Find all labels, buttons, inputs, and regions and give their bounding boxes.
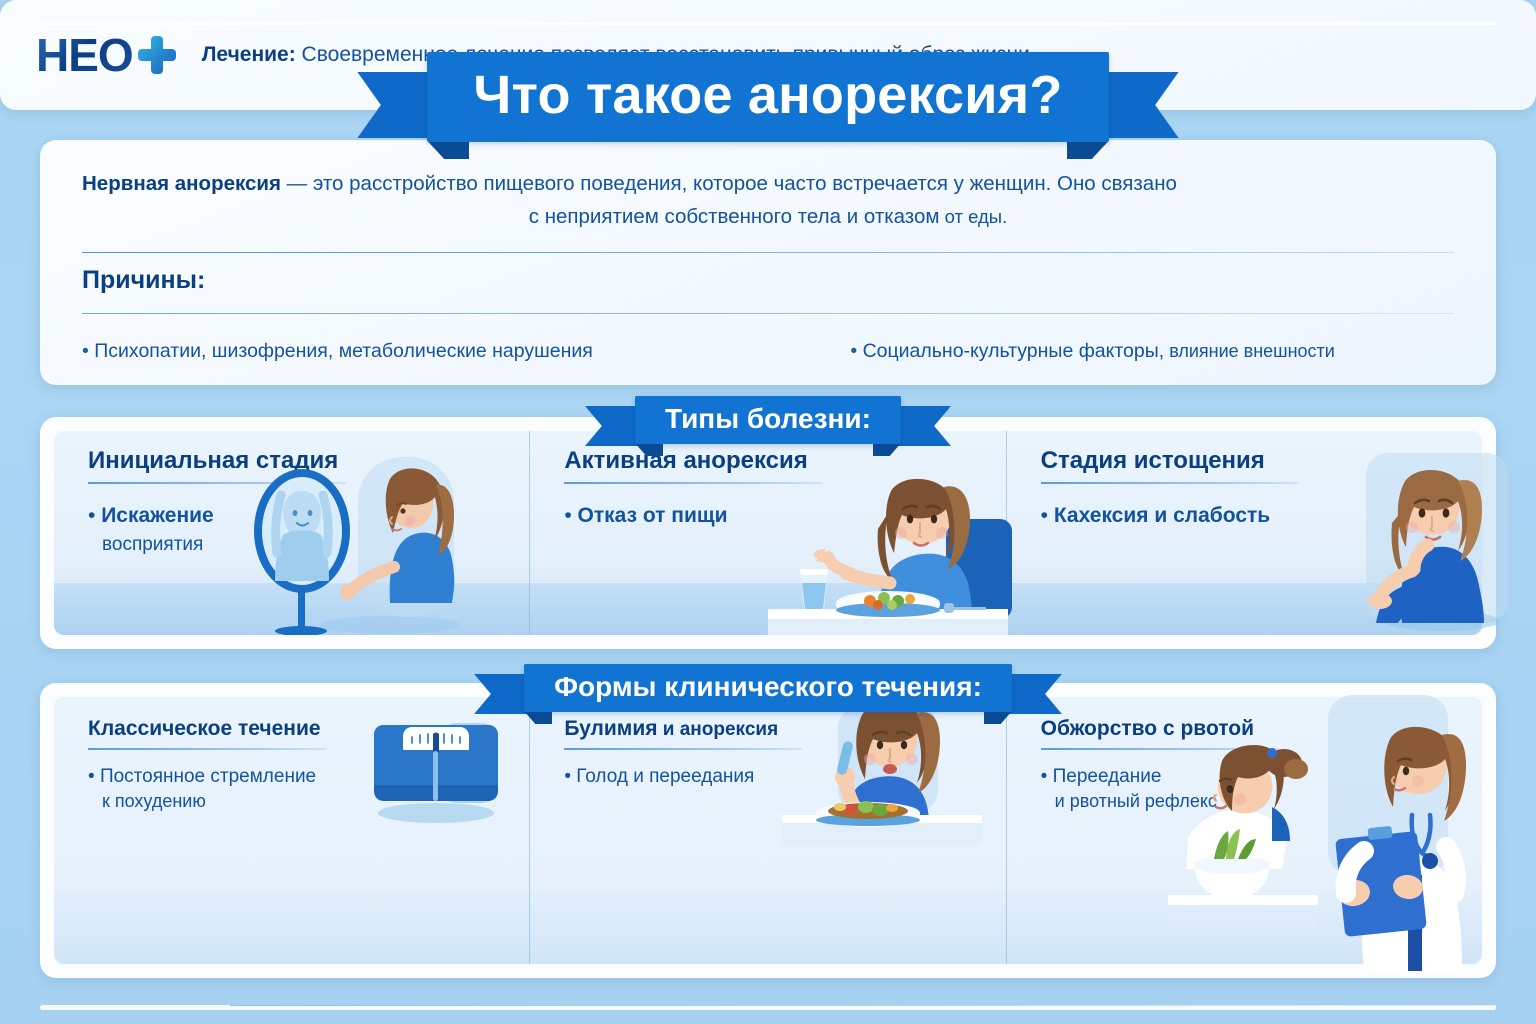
form-bullet-classic-line1: Постоянное стремление — [100, 766, 316, 787]
title-underline — [564, 748, 802, 750]
intro-dash: — — [281, 172, 313, 195]
type-bullet-initial: • Искажение восприятия — [88, 502, 529, 559]
types-banner: Типы болезни: — [0, 396, 1536, 444]
type-bullet-cachexia: • Кахексия и слабость — [1041, 502, 1482, 530]
type-column-initial: Инициальная стадия • Искажение восприяти… — [54, 431, 529, 635]
bullet-icon: • — [850, 340, 857, 362]
form-bullet-binge-line2: и рвотный рефлекс — [1055, 789, 1217, 813]
title-underline — [1041, 748, 1279, 750]
title-underline — [88, 748, 326, 750]
form-title-classic: Классическое течение — [88, 717, 529, 741]
form-column-binge: Обжорство с рвотой • Переедание и рвотны… — [1006, 697, 1482, 964]
causes-list: • Психопатии, шизофрения, метаболические… — [82, 340, 1454, 363]
forms-banner-label: Формы клинического течения: — [524, 664, 1012, 712]
bullet-icon: • — [88, 766, 95, 787]
form-bullet-bulimia: • Голод и переедания — [564, 764, 1005, 790]
form-title-bulimia-tail: и анорексия — [658, 719, 779, 740]
forms-banner: Формы клинического течения: — [0, 664, 1536, 712]
types-card: Инициальная стадия • Искажение восприяти… — [40, 417, 1496, 649]
type-title-active: Активная анорексия — [564, 447, 1005, 475]
types-panel: Инициальная стадия • Искажение восприяти… — [54, 431, 1482, 635]
bullet-icon: • — [88, 504, 95, 527]
bullet-icon: • — [1041, 766, 1048, 787]
type-bullet-active: • Отказ от пищи — [564, 502, 1005, 530]
ribbon-tail-right-icon — [1006, 674, 1062, 714]
intro-lead-term: Нервная анорексия — [82, 172, 281, 195]
form-column-bulimia: Булимия и анорексия • Голод и переедания — [529, 697, 1005, 964]
intro-paragraph: Нервная анорексия — это расстройство пищ… — [82, 168, 1454, 201]
cause-item-2-tail: влияние внешности — [1164, 341, 1335, 361]
form-bullet-classic-line2: к похудению — [102, 789, 206, 813]
cause-item-2-text: Социально-культурные факторы, — [863, 340, 1165, 362]
bullet-icon: • — [1041, 504, 1048, 527]
type-bullet-active-line1: Отказ от пищи — [578, 504, 728, 527]
type-title-cachexia: Стадия истощения — [1041, 447, 1482, 475]
intro-divider — [82, 252, 1454, 254]
ribbon-tail-left-icon — [585, 406, 641, 446]
type-column-active: Активная анорексия • Отказ от пищи — [529, 431, 1005, 635]
page-title: Что такое анорексия? — [427, 52, 1108, 142]
ribbon-tail-right-icon — [1101, 72, 1179, 138]
type-title-initial: Инициальная стадия — [88, 447, 529, 475]
footer-divider — [230, 1005, 1496, 1006]
cause-item-2: • Социально-культурные факторы, влияние … — [850, 340, 1335, 363]
form-bullet-binge-line1: Переедание — [1053, 766, 1162, 787]
form-bullet-binge: • Переедание и рвотный рефлекс — [1041, 764, 1482, 815]
intro-paragraph-line2: с неприятием собственного тела и отказом… — [82, 201, 1454, 234]
form-column-classic: Классическое течение • Постоянное стремл… — [54, 697, 529, 964]
form-bullet-classic: • Постоянное стремление к похудению — [88, 764, 529, 815]
type-column-cachexia: Стадия истощения • Кахексия и слабость — [1006, 431, 1482, 635]
causes-heading: Причины: — [82, 266, 1454, 295]
intro-line2-tail: от еды. — [939, 206, 1007, 227]
form-title-binge: Обжорство с рвотой — [1041, 717, 1482, 741]
ribbon-tail-right-icon — [895, 406, 951, 446]
top-divider-line — [40, 22, 1496, 25]
cause-item-1: • Психопатии, шизофрения, метаболические… — [82, 340, 850, 363]
forms-card: Классическое течение • Постоянное стремл… — [40, 683, 1496, 978]
title-underline — [88, 482, 346, 484]
title-underline — [564, 482, 822, 484]
form-title-bulimia: Булимия и анорексия — [564, 717, 1005, 741]
form-bullet-bulimia-line1: Голод и переедания — [576, 766, 754, 787]
type-bullet-cachexia-line1: Кахексия и слабость — [1054, 504, 1270, 527]
bullet-icon: • — [564, 504, 571, 527]
bullet-icon: • — [82, 340, 89, 362]
type-bullet-initial-line1: Искажение — [101, 504, 214, 527]
type-bullet-initial-line2: восприятия — [102, 532, 203, 558]
forms-panel: Классическое течение • Постоянное стремл… — [54, 697, 1482, 964]
causes-divider — [82, 313, 1454, 314]
bullet-icon: • — [564, 766, 571, 787]
intro-line2-main: с неприятием собственного тела и отказом — [529, 205, 940, 228]
intro-card: Нервная анорексия — это расстройство пищ… — [40, 140, 1496, 385]
title-underline — [1041, 482, 1299, 484]
ribbon-tail-left-icon — [357, 72, 435, 138]
cause-item-1-text: Психопатии, шизофрения, метаболические н… — [94, 340, 593, 362]
infographic-page: Что такое анорексия? Нервная анорексия —… — [0, 0, 1536, 1024]
ribbon-tail-left-icon — [474, 674, 530, 714]
intro-body: это расстройство пищевого поведения, кот… — [313, 172, 1177, 195]
form-title-bulimia-main: Булимия — [564, 717, 657, 740]
types-banner-label: Типы болезни: — [635, 396, 901, 444]
title-banner: Что такое анорексия? — [0, 52, 1536, 142]
